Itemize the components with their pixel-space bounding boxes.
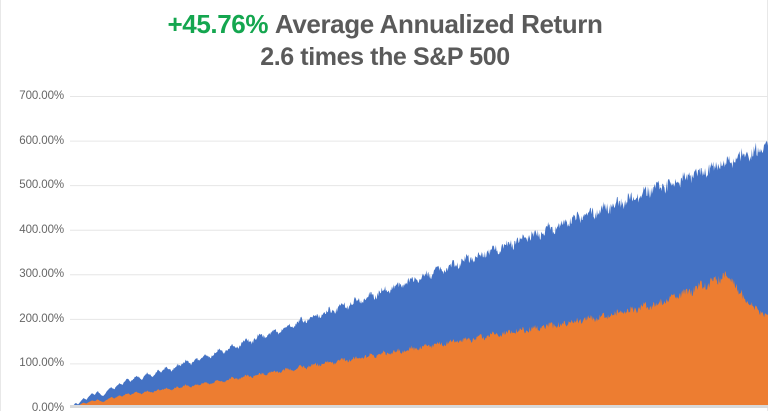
annualized-return-label: Average Annualized Return [275, 9, 603, 39]
annualized-return-value: +45.76% [168, 9, 269, 39]
y-axis-tick-label: 700.00% [19, 90, 64, 102]
plot-area [70, 96, 768, 408]
chart-title-block: +45.76% Average Annualized Return 2.6 ti… [1, 8, 768, 73]
title-spacer [268, 9, 275, 39]
y-axis: 700.00%600.00%500.00%400.00%300.00%200.0… [1, 96, 64, 408]
chart-title-line-1: +45.76% Average Annualized Return [1, 8, 768, 41]
y-axis-tick-label: 500.00% [19, 179, 64, 191]
x-axis-baseline [70, 405, 768, 408]
y-axis-tick-label: 400.00% [19, 224, 64, 236]
y-axis-tick-label: 600.00% [19, 135, 64, 147]
y-axis-tick-label: 100.00% [19, 357, 64, 369]
y-axis-tick-label: 200.00% [19, 313, 64, 325]
y-axis-tick-label: 0.00% [32, 402, 64, 414]
chart-container: +45.76% Average Annualized Return 2.6 ti… [0, 0, 768, 411]
chart-subtitle: 2.6 times the S&P 500 [1, 41, 768, 73]
area-chart-svg [70, 96, 768, 408]
y-axis-tick-label: 300.00% [19, 268, 64, 280]
